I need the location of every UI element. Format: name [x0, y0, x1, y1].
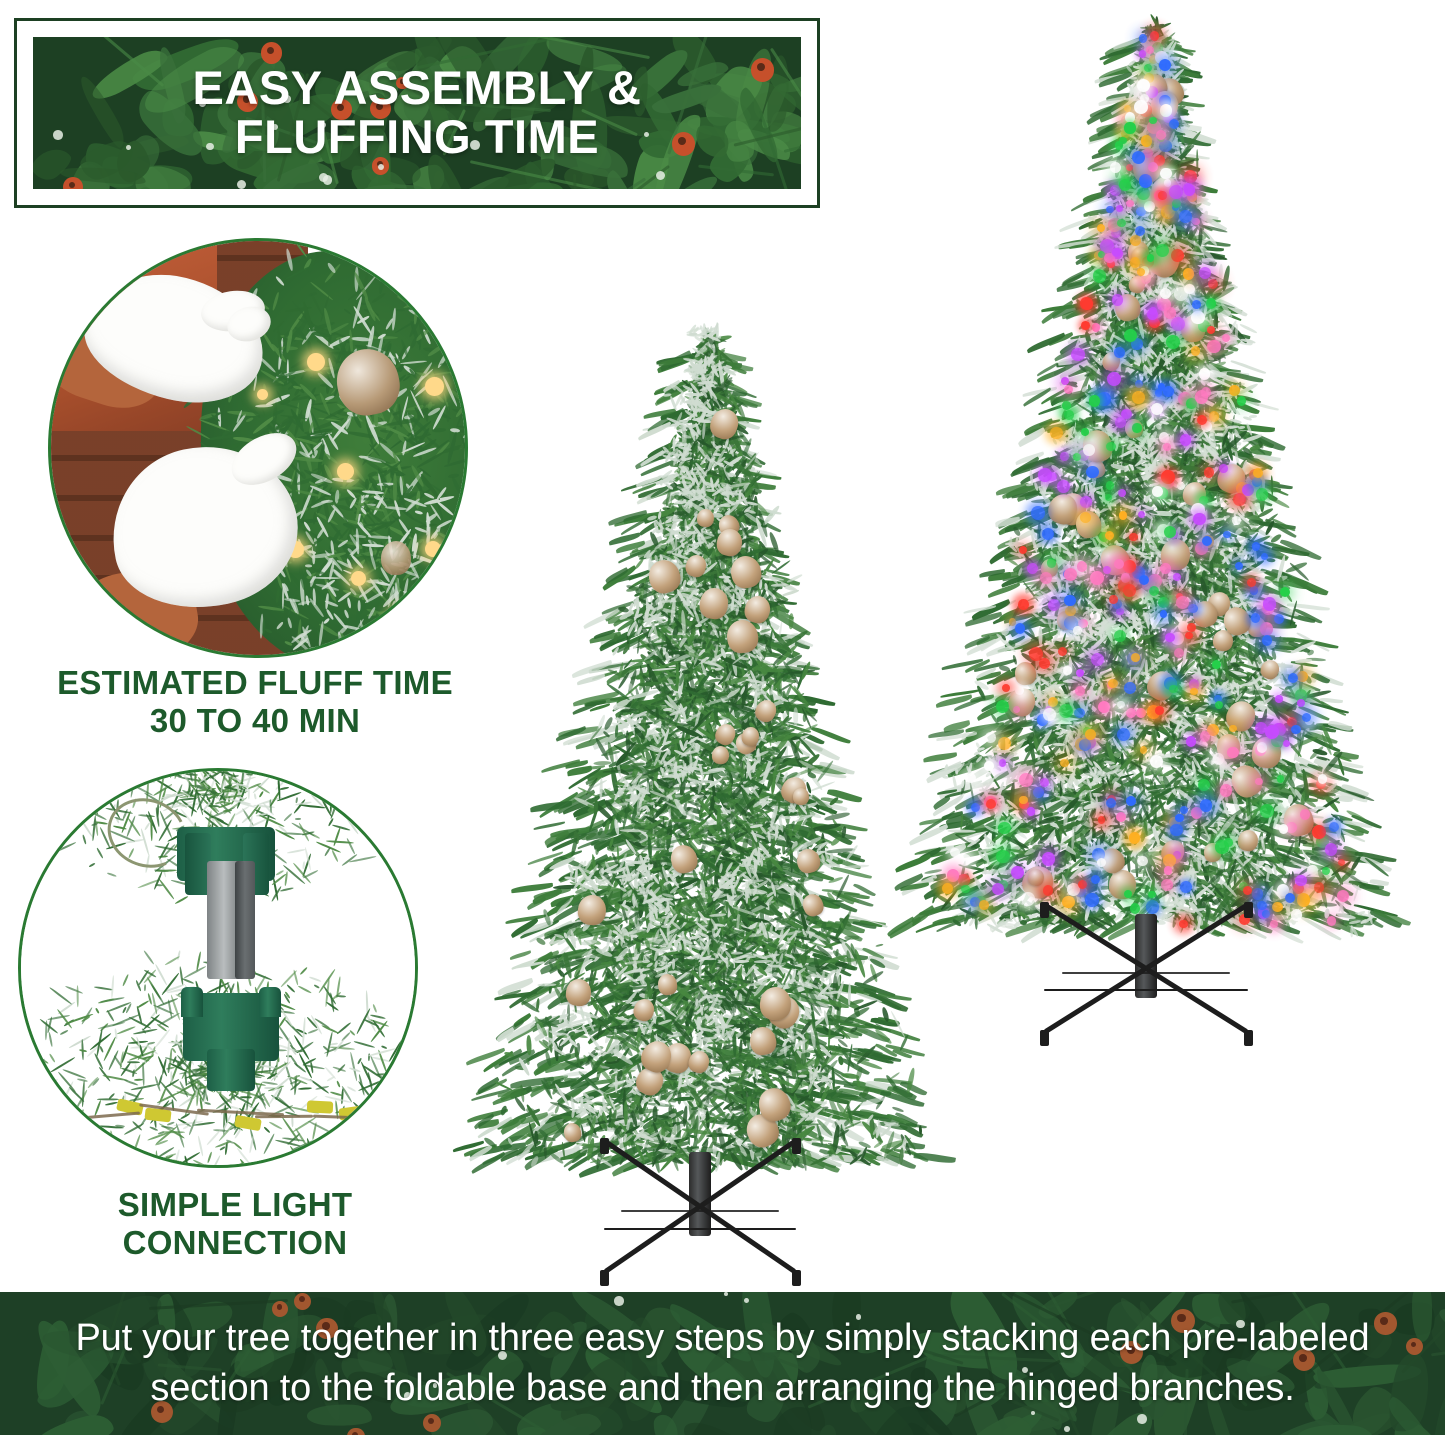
footer-description: Put your tree together in three easy ste…: [0, 1292, 1445, 1435]
page-title-line1: EASY ASSEMBLY &: [193, 64, 642, 113]
header-banner-inner: EASY ASSEMBLY & FLUFFING TIME: [33, 37, 801, 189]
infographic-page: EASY ASSEMBLY & FLUFFING TIME ESTIMATED …: [0, 0, 1445, 1435]
footer-description-line1: Put your tree together in three easy ste…: [76, 1314, 1370, 1363]
page-title: EASY ASSEMBLY & FLUFFING TIME: [33, 37, 801, 189]
footer-banner: Put your tree together in three easy ste…: [0, 1292, 1445, 1435]
light-connection-caption-line2: CONNECTION: [60, 1224, 410, 1262]
light-connection-caption: SIMPLE LIGHT CONNECTION: [60, 1186, 410, 1263]
product-tree-lit: [900, 10, 1445, 1025]
light-connection-photo: [18, 768, 418, 1168]
pole-connector-scene: [21, 771, 415, 1165]
header-banner: EASY ASSEMBLY & FLUFFING TIME: [14, 18, 820, 208]
light-connection-caption-line1: SIMPLE LIGHT: [60, 1186, 410, 1224]
footer-description-line2: section to the foldable base and then ar…: [150, 1364, 1294, 1413]
product-tree-unlit: [400, 330, 960, 1280]
page-title-line2: FLUFFING TIME: [235, 113, 599, 162]
